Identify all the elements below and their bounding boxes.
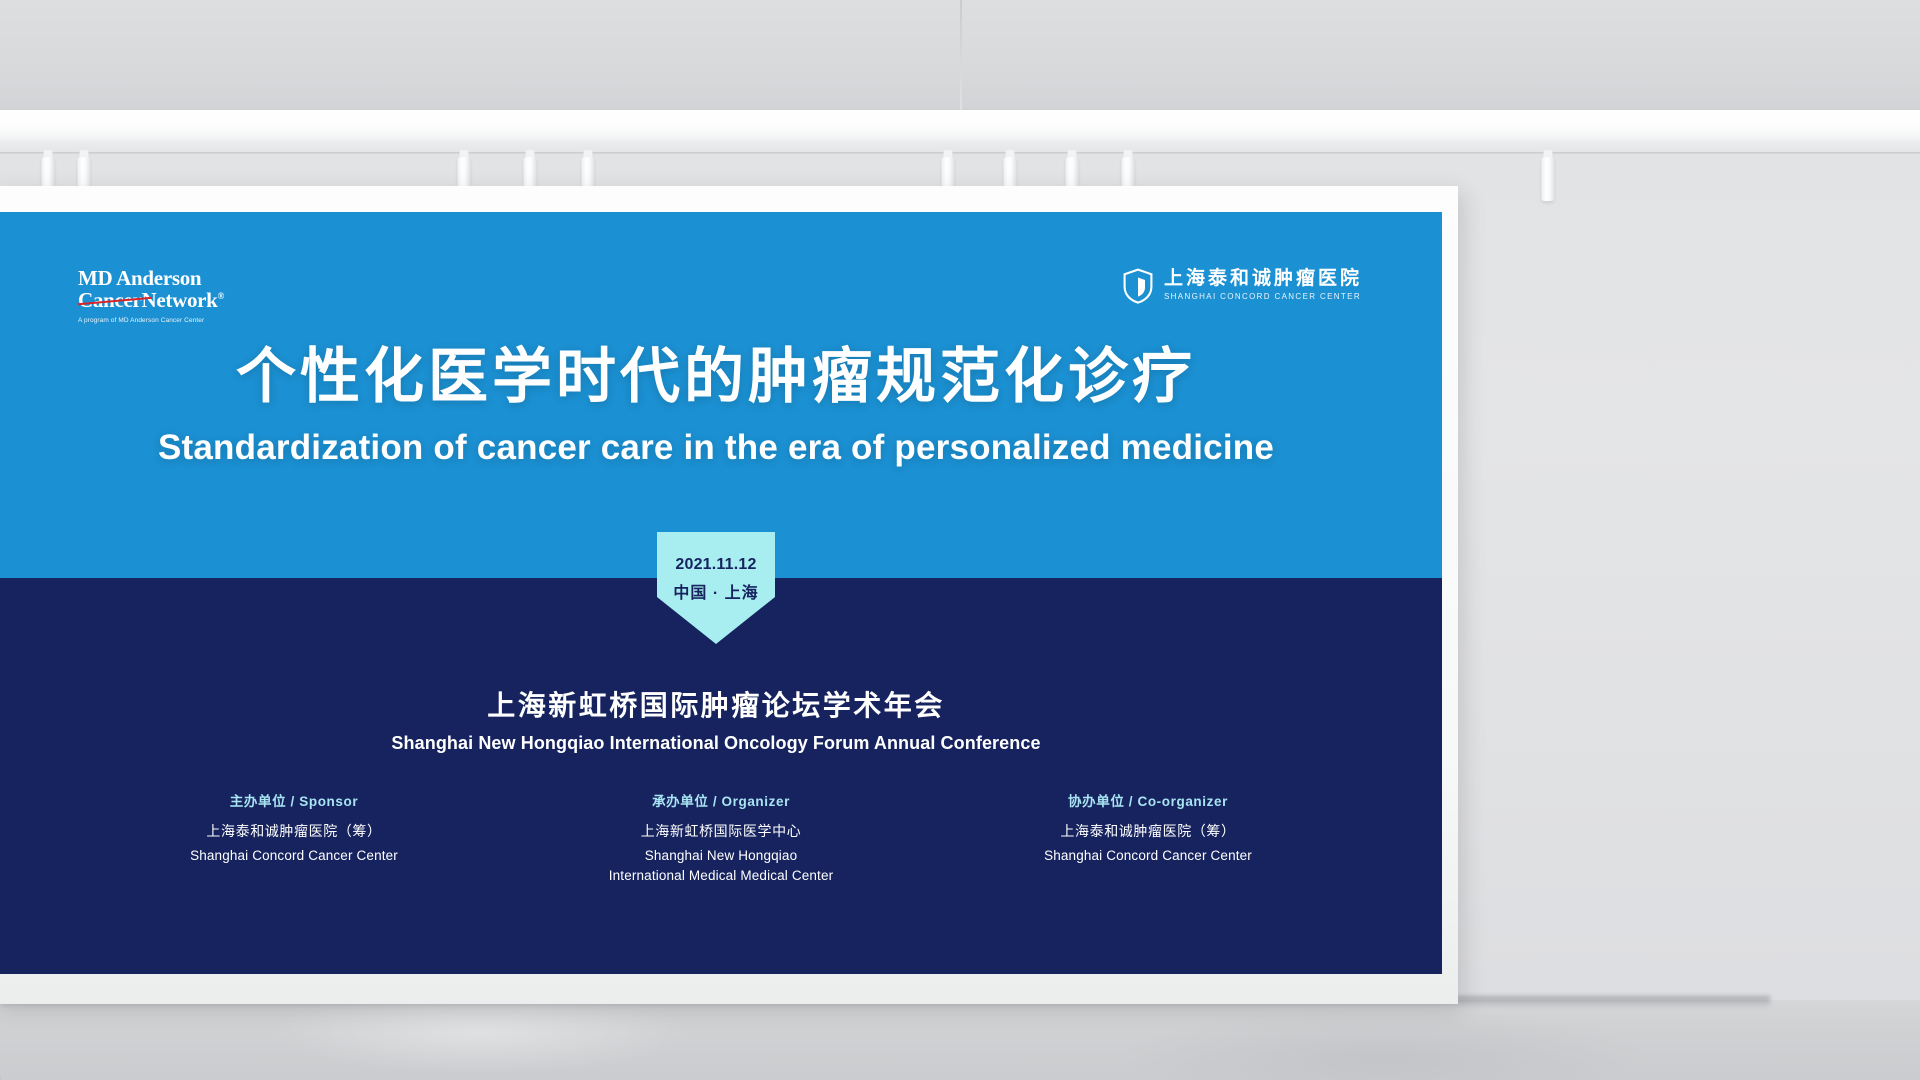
- md-anderson-tagline: A program of MD Anderson Cancer Center: [78, 317, 248, 324]
- md-anderson-logo: MD Anderson CancerNetwork® A program of …: [78, 268, 248, 324]
- page-title-cn: 个性化医学时代的肿瘤规范化诊疗: [0, 342, 1442, 411]
- conference-name-cn: 上海新虹桥国际肿瘤论坛学术年会: [0, 688, 1442, 724]
- organizer-column-sponsor: 主办单位 / Sponsor 上海泰和诚肿瘤医院（筹） Shanghai Con…: [114, 794, 474, 885]
- headline-block: 个性化医学时代的肿瘤规范化诊疗 Standardization of cance…: [0, 342, 1442, 469]
- page-title-en: Standardization of cancer care in the er…: [0, 427, 1442, 469]
- md-anderson-logo-line1: MD Anderson: [78, 268, 248, 289]
- conference-name-block: 上海新虹桥国际肿瘤论坛学术年会 Shanghai New Hongqiao In…: [0, 688, 1442, 754]
- organizer-role-label: 协办单位 / Co-organizer: [968, 794, 1328, 810]
- organizer-name-cn: 上海泰和诚肿瘤医院（筹）: [114, 822, 474, 841]
- organizer-name-cn: 上海新虹桥国际医学中心: [541, 822, 901, 841]
- organizer-name-en: Shanghai Concord Cancer Center: [114, 846, 474, 866]
- event-date: 2021.11.12: [675, 556, 756, 574]
- concrete-floor: [0, 1000, 1920, 1080]
- organizer-role-label: 主办单位 / Sponsor: [114, 794, 474, 810]
- concord-logo-name-en: SHANGHAI CONCORD CANCER CENTER: [1164, 292, 1362, 302]
- concord-logo-name-cn: 上海泰和诚肿瘤医院: [1164, 268, 1362, 289]
- registered-trademark-icon: ®: [218, 291, 224, 301]
- lighting-track-rail: [0, 152, 1920, 155]
- event-location: 中国 · 上海: [673, 579, 758, 603]
- md-anderson-network-word: Network: [142, 288, 218, 312]
- organizer-name-en: Shanghai Concord Cancer Center: [968, 846, 1328, 866]
- conference-backdrop-banner: MD Anderson CancerNetwork® A program of …: [0, 212, 1442, 974]
- organizer-name-cn: 上海泰和诚肿瘤医院（筹）: [968, 822, 1328, 841]
- organizer-column-co-organizer: 协办单位 / Co-organizer 上海泰和诚肿瘤医院（筹） Shangha…: [968, 794, 1328, 885]
- banner-frame: MD Anderson CancerNetwork® A program of …: [0, 186, 1458, 1004]
- organizers-row: 主办单位 / Sponsor 上海泰和诚肿瘤医院（筹） Shanghai Con…: [70, 794, 1362, 885]
- organizer-role-label: 承办单位 / Organizer: [541, 794, 901, 810]
- conference-name-en: Shanghai New Hongqiao International Onco…: [0, 733, 1442, 754]
- md-anderson-logo-line2: CancerNetwork®: [78, 289, 248, 311]
- concord-cancer-center-logo: 上海泰和诚肿瘤医院 SHANGHAI CONCORD CANCER CENTER: [1123, 268, 1362, 304]
- shield-icon: [1123, 268, 1153, 304]
- ceiling-hanger-wire: [960, 0, 962, 128]
- organizer-name-en: Shanghai New Hongqiao International Medi…: [541, 846, 901, 885]
- room-scene: MD Anderson CancerNetwork® A program of …: [0, 0, 1920, 1080]
- organizer-column-organizer: 承办单位 / Organizer 上海新虹桥国际医学中心 Shanghai Ne…: [541, 794, 901, 885]
